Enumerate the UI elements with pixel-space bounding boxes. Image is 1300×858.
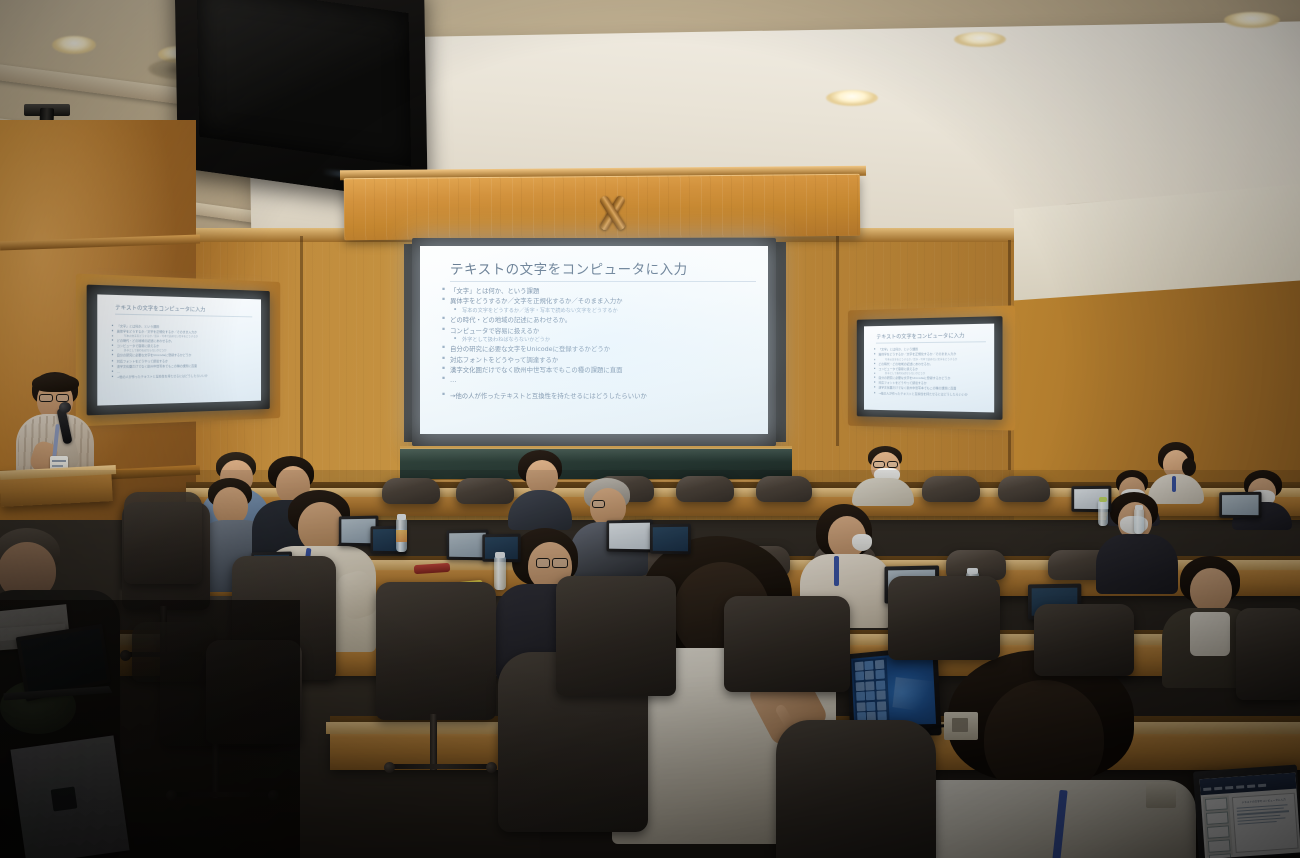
bottle-cap [1135, 505, 1143, 510]
badge-line [52, 465, 63, 467]
chair [556, 576, 676, 696]
outlet-socket-icon[interactable] [952, 718, 968, 732]
desk-power-outlet[interactable] [1146, 782, 1176, 808]
water-bottle [1098, 500, 1108, 526]
windows-desktop-screen[interactable] [851, 651, 936, 726]
chair [888, 576, 1000, 660]
glasses-icon [873, 461, 885, 468]
bottle-cap [397, 514, 406, 520]
laptop-screen [609, 523, 650, 550]
chair [206, 640, 302, 744]
chair [922, 476, 980, 502]
chair-caster [166, 790, 177, 801]
slide-thumbnail[interactable] [1208, 839, 1231, 853]
head [1190, 568, 1232, 612]
right-wall-monitor: テキストの文字をコンピュータに入力 「文字」とは何か、という課題 異体字をどうす… [857, 316, 1003, 420]
slide-bullet: 漢字文化圏だけでなく欧州中世写本でもこの種の課題に直面 [442, 365, 760, 375]
chair [676, 476, 734, 502]
slide-bullet: どの時代・どの地域の記述にあわせるか。 [442, 315, 760, 325]
slide-thumbnail[interactable] [1205, 797, 1228, 811]
right-monitor-bullets: 「文字」とは何か、という課題 異体字をどうするか／文字を正規化するか／そのまま入… [874, 347, 989, 398]
left-monitor-bullets: 「文字」とは何か、という課題 異体字をどうするか／文字を正規化するか／そのまま入… [112, 324, 256, 381]
slide-thumbnail[interactable] [1209, 853, 1232, 858]
chair-base [390, 764, 494, 769]
audience-member [852, 446, 918, 504]
chair-post [430, 714, 437, 770]
glasses-icon [56, 394, 69, 402]
wallpaper-highlight [892, 677, 936, 713]
notebook-logo-icon [51, 786, 78, 811]
torso [1096, 534, 1178, 594]
slide-thumbnail[interactable] [1207, 825, 1230, 839]
bottle-cap [1099, 497, 1107, 502]
left-monitor-screen: テキストの文字をコンピュータに入力 「文字」とは何か、という課題 異体字をどうす… [97, 294, 261, 405]
start-menu-tiles[interactable] [853, 657, 890, 724]
chair [1034, 604, 1134, 676]
bottle-cap [495, 552, 505, 558]
crossed-tools-emblem-icon [590, 196, 634, 230]
laptop-screen [1222, 495, 1259, 515]
chair-base [172, 792, 276, 797]
slide-bullet: コンピュータで容易に扱えるか [442, 326, 760, 336]
chair [724, 596, 850, 692]
slide-bullet: →他の人が作ったテキストと互換性を持たせるにはどうしたらいいか [112, 373, 256, 380]
laptop-lid [650, 524, 691, 555]
chair-caster [384, 762, 395, 773]
chalkboard-sheen [400, 448, 792, 462]
slide-bullet: →他の人が作ったテキストと互換性を持たせるにはどうしたらいいか [442, 391, 760, 401]
bottle-label [396, 530, 407, 542]
slide-title: テキストの文字をコンピュータに入力 [450, 258, 756, 282]
torso [852, 478, 914, 506]
chair-caster [486, 762, 497, 773]
glasses-icon [39, 394, 53, 402]
slide-editing-canvas[interactable]: テキストの文字をコンピュータに入力 [1232, 793, 1299, 853]
slide-bullet: 異体字をどうするか／文字を正規化するか／そのまま入力か [442, 296, 760, 306]
lanyard [1172, 476, 1176, 492]
chair [382, 478, 440, 504]
slide-bullet: 「文字」とは何か、という課題 [442, 286, 760, 296]
audience-member-foreground [900, 650, 1200, 858]
ribbon-tabs[interactable] [1203, 784, 1266, 791]
slide-bullet: … [442, 375, 760, 385]
ceiling-downlight-icon [826, 90, 878, 106]
wall-panel-seam [300, 236, 303, 486]
head [526, 460, 558, 494]
hair-bun [1182, 458, 1196, 476]
glasses-icon [552, 558, 568, 568]
left-wall-monitor: テキストの文字をコンピュータに入力 「文字」とは何か、という課題 異体字をどうす… [87, 285, 270, 416]
slide-thumbnail-panel[interactable] [1203, 795, 1233, 857]
powerpoint-ribbon[interactable] [1200, 773, 1297, 796]
chair [756, 476, 812, 502]
slide-thumbnail[interactable] [1206, 811, 1229, 825]
badge-line [52, 460, 66, 462]
audience-member [508, 450, 574, 526]
right-monitor-title: テキストの文字をコンピュータに入力 [876, 331, 986, 344]
chair [776, 720, 936, 858]
glasses-icon [536, 558, 550, 568]
chair [456, 478, 514, 504]
chair [124, 492, 202, 584]
chair [998, 476, 1050, 502]
slide-bullet-list: 「文字」とは何か、という課題 異体字をどうするか／文字を正規化するか／そのまま入… [442, 286, 760, 401]
chair [376, 582, 496, 720]
slide-bullet: 写本の文字をどうするか／活字・写本で読めない文字をどうするか [442, 307, 760, 315]
chair-caster [268, 790, 279, 801]
right-monitor-screen: テキストの文字をコンピュータに入力 「文字」とは何か、という課題 異体字をどうす… [864, 324, 994, 413]
lecture-hall-photo: テキストの文字をコンピュータに入力 「文字」とは何か、という課題 異体字をどうす… [0, 0, 1300, 858]
slide-content: テキストの文字をコンピュータに入力 「文字」とは何か、という課題 異体字をどうす… [420, 246, 768, 434]
presenter-hair-top [32, 374, 79, 392]
slide-bullet: 外字として扱わねばならないかどうか [442, 336, 760, 344]
head [298, 502, 344, 552]
torso [508, 490, 572, 530]
water-bottle [1134, 508, 1144, 534]
bottle-cap [967, 568, 978, 574]
slide-bullet: 対応フォントをどうやって調達するか [442, 355, 760, 365]
laptop-lid [1219, 492, 1261, 519]
wall-panel-seam [836, 236, 839, 446]
ceiling-downlight-icon [52, 36, 96, 54]
glasses-icon [592, 500, 605, 508]
left-monitor-title: テキストの文字をコンピュータに入力 [115, 304, 252, 318]
chair [1236, 608, 1300, 700]
chair-post [212, 740, 219, 798]
laptop-screen [449, 533, 486, 558]
water-bottle [494, 556, 506, 590]
face-mask-icon [852, 534, 872, 551]
glasses-icon [887, 461, 898, 468]
chair-caster [120, 650, 131, 661]
laptop-screen [653, 527, 688, 552]
powerpoint-window[interactable]: テキストの文字をコンピュータに入力 [1200, 773, 1300, 858]
slide-bullet: →他の人が作ったテキストと互換性を持たせるにはどうしたらいいか [874, 391, 989, 398]
laptop-lid [606, 520, 652, 553]
laptop-powerpoint: テキストの文字をコンピュータに入力 [1193, 764, 1300, 858]
chair [132, 622, 214, 682]
ceiling-downlight-icon [954, 32, 1006, 47]
ceiling-downlight-icon [1224, 12, 1280, 28]
slide-bullet: 自分の研究に必要な文字をUnicodeに登録するかどうか [442, 344, 760, 354]
